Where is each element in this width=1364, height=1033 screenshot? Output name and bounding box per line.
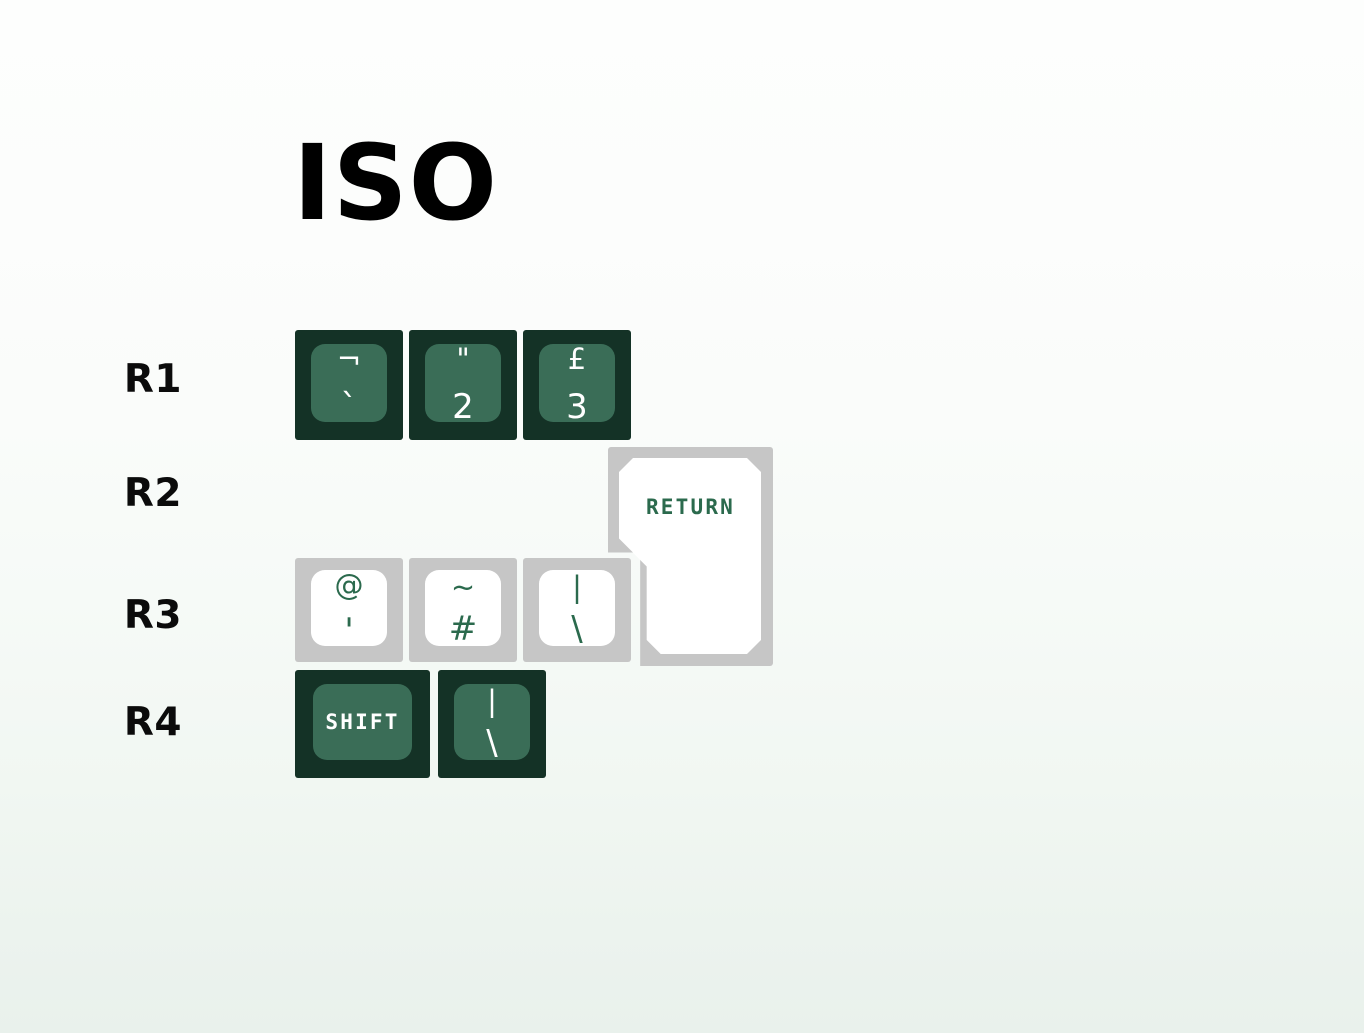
keycap-r1-grave[interactable]: ¬ ` — [295, 330, 403, 440]
legend-upper: £ — [568, 345, 586, 374]
legend-upper: @ — [335, 571, 364, 600]
legend-word: SHIFT — [325, 712, 399, 733]
legend-upper: ~ — [451, 573, 475, 602]
keycap-r3-quote[interactable]: @ ' — [295, 558, 403, 662]
keycap-r3-backslash[interactable]: | \ — [523, 558, 631, 662]
keycap-top-surface: ~ # — [425, 570, 501, 646]
keycap-r4-iso-backslash[interactable]: | \ — [438, 670, 546, 778]
row-label-r3: R3 — [62, 596, 182, 635]
keycap-r3-hash[interactable]: ~ # — [409, 558, 517, 662]
legend-upper: ¬ — [337, 345, 361, 374]
row-label-r4: R4 — [62, 703, 182, 742]
legend-word: RETURN — [608, 497, 773, 518]
keycap-top-surface: @ ' — [311, 570, 387, 646]
legend-upper: " — [456, 345, 469, 374]
keycap-r1-three[interactable]: £ 3 — [523, 330, 631, 440]
legend-lower: # — [449, 612, 478, 646]
keycap-r1-two[interactable]: " 2 — [409, 330, 517, 440]
legend-lower: ' — [344, 614, 353, 648]
legend-lower: \ — [486, 726, 497, 760]
page-title: ISO — [293, 131, 498, 235]
legend-lower: 3 — [566, 390, 588, 424]
keycap-top-surface: £ 3 — [539, 344, 615, 422]
keycap-top-surface: | \ — [539, 570, 615, 646]
legend-lower: \ — [571, 612, 582, 646]
legend-upper: | — [487, 687, 497, 716]
legend-lower: ` — [341, 390, 358, 424]
keycap-top-surface: SHIFT — [313, 684, 412, 760]
keycap-layout-canvas: ISO R1 R2 R3 R4 ¬ ` " 2 £ 3 — [0, 0, 1364, 1033]
legend-lower: 2 — [452, 390, 474, 424]
keycap-r2-return[interactable]: RETURN — [608, 447, 773, 666]
keycap-top-surface: | \ — [454, 684, 530, 760]
row-label-r2: R2 — [62, 474, 182, 513]
legend-upper: | — [572, 573, 582, 602]
keycap-top-surface: " 2 — [425, 344, 501, 422]
row-label-r1: R1 — [62, 360, 182, 399]
keycap-top-surface: ¬ ` — [311, 344, 387, 422]
keycap-r4-shift[interactable]: SHIFT — [295, 670, 430, 778]
